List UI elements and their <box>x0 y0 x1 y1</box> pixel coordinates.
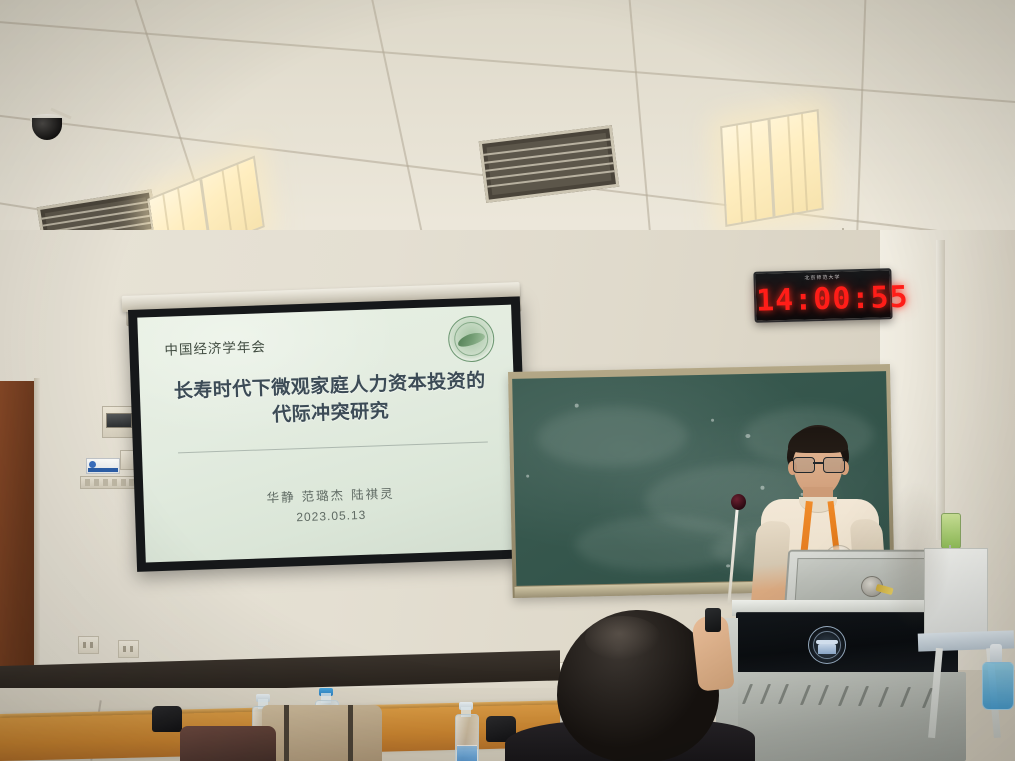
dome-security-camera <box>32 118 62 140</box>
projection-screen: 中国经济学年会 长寿时代下微观家庭人力资本投资的代际冲突研究 华静 范璐杰 陆祺… <box>128 296 529 572</box>
glasses-icon <box>793 457 843 471</box>
chair-back <box>152 706 182 732</box>
door-jamb <box>34 378 40 694</box>
hvac-vent <box>479 125 620 203</box>
wall-outlet[interactable] <box>78 636 99 654</box>
sign-bar <box>88 468 118 472</box>
gooseneck-microphone <box>731 494 746 510</box>
audience-member-photographing <box>545 602 775 761</box>
hand-sanitizer-bottle[interactable] <box>982 662 1014 710</box>
lecture-hall-photo: 中国经济学年会 长寿时代下微观家庭人力资本投资的代际冲突研究 华静 范璐杰 陆祺… <box>0 0 1015 761</box>
clock-time: 14:00:55 <box>756 280 891 318</box>
slide-surface: 中国经济学年会 长寿时代下微观家庭人力资本投资的代际冲突研究 华静 范璐杰 陆祺… <box>137 305 519 563</box>
wall-outlet[interactable] <box>118 640 139 658</box>
panel-display <box>106 413 132 428</box>
conference-emblem-icon <box>447 315 495 363</box>
wall-sign <box>86 458 120 474</box>
sanitizer-pump[interactable] <box>990 644 1002 664</box>
sign-icon <box>89 461 96 468</box>
presenter-hair-front <box>788 427 848 453</box>
slide-eyebrow: 中国经济学年会 <box>164 335 266 359</box>
university-emblem-icon <box>808 626 846 664</box>
ceiling-light-right <box>720 109 824 227</box>
digital-clock: 北京师范大学 14:00:55 <box>753 268 892 323</box>
bag <box>180 726 276 761</box>
wall-shadow <box>880 480 950 630</box>
slide-divider <box>178 442 488 454</box>
outlet-strip[interactable] <box>80 476 138 489</box>
slide-title: 长寿时代下微观家庭人力资本投资的代际冲突研究 <box>167 367 493 432</box>
tote-bag <box>262 705 382 761</box>
smartphone[interactable] <box>705 608 721 632</box>
hair-highlight <box>585 616 661 660</box>
water-bottle[interactable] <box>455 702 477 761</box>
